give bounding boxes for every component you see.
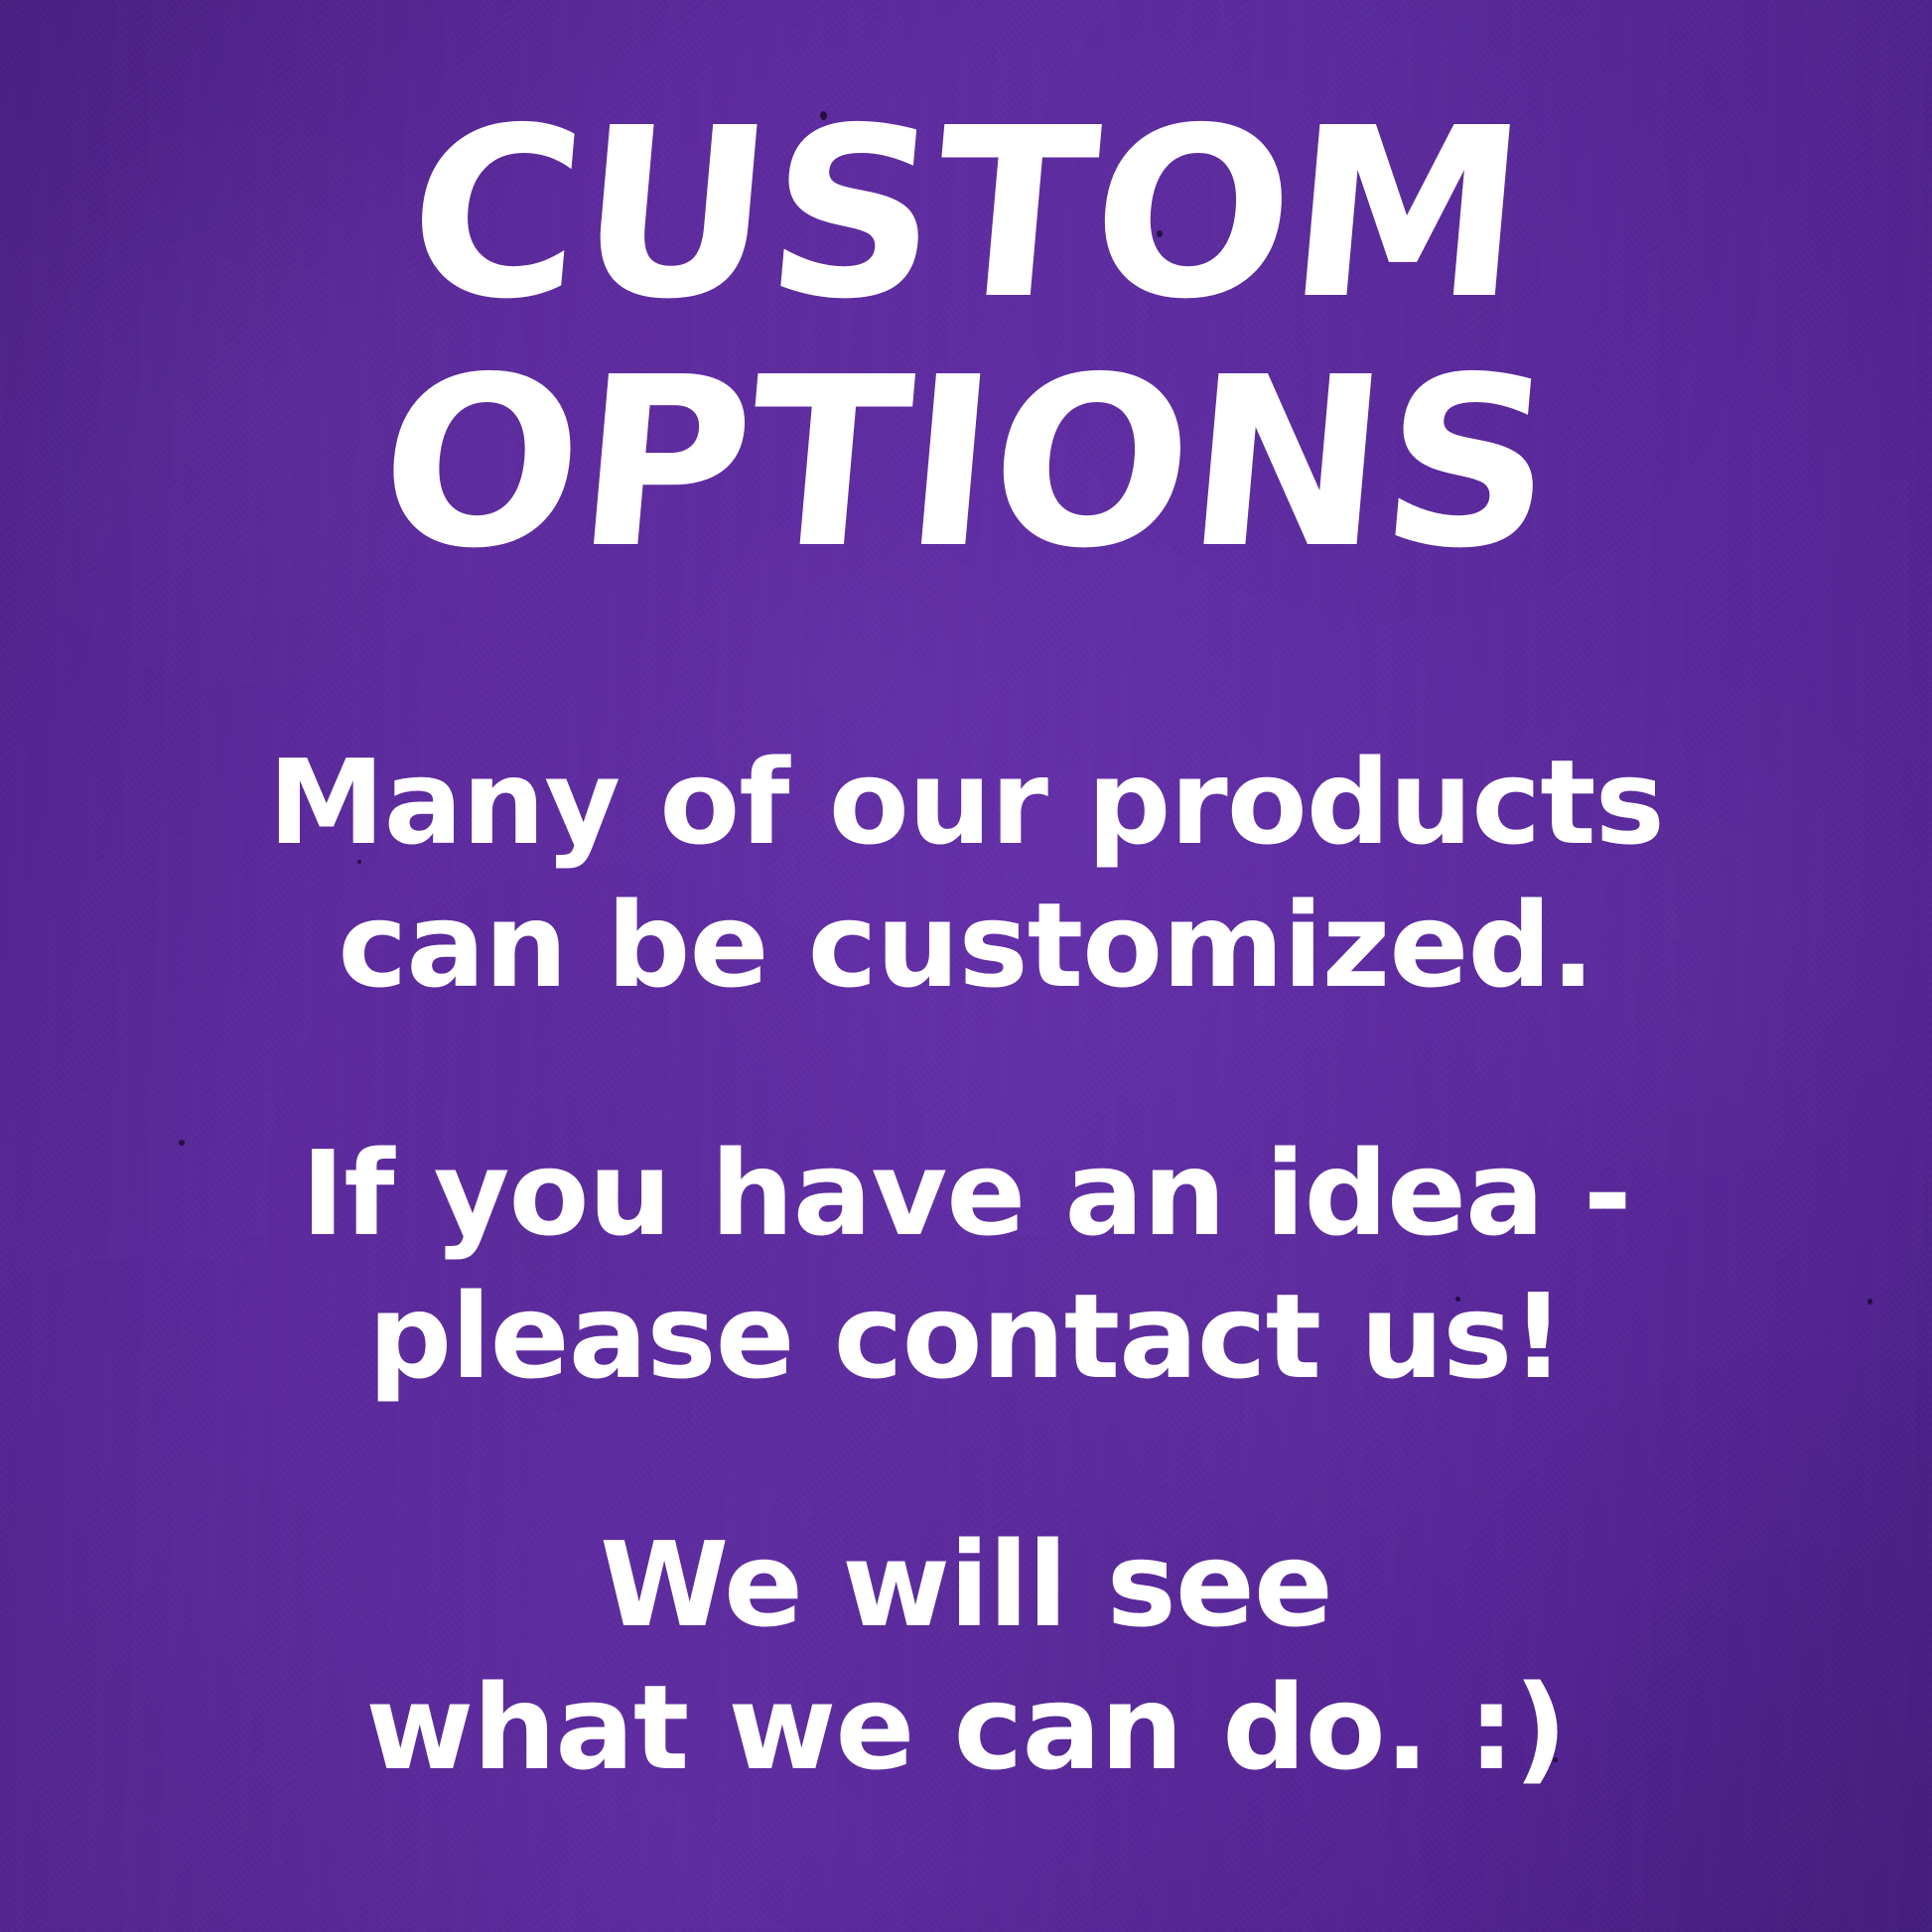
title-line-options: OPTIONS bbox=[0, 345, 1932, 584]
poster-body: Many of our products can be customized. … bbox=[0, 732, 1932, 1800]
body-paragraph-contact-invite: If you have an idea - please contact us! bbox=[0, 1123, 1932, 1409]
poster-title: CUSTOM OPTIONS bbox=[0, 95, 1932, 583]
poster-content: CUSTOM OPTIONS Many of our products can … bbox=[0, 0, 1932, 1932]
poster-canvas: CUSTOM OPTIONS Many of our products can … bbox=[0, 0, 1932, 1932]
title-line-custom: CUSTOM bbox=[0, 95, 1932, 335]
body-paragraph-closing-promise: We will see what we can do. :) bbox=[0, 1514, 1932, 1800]
body-paragraph-products-customizable: Many of our products can be customized. bbox=[0, 732, 1932, 1018]
